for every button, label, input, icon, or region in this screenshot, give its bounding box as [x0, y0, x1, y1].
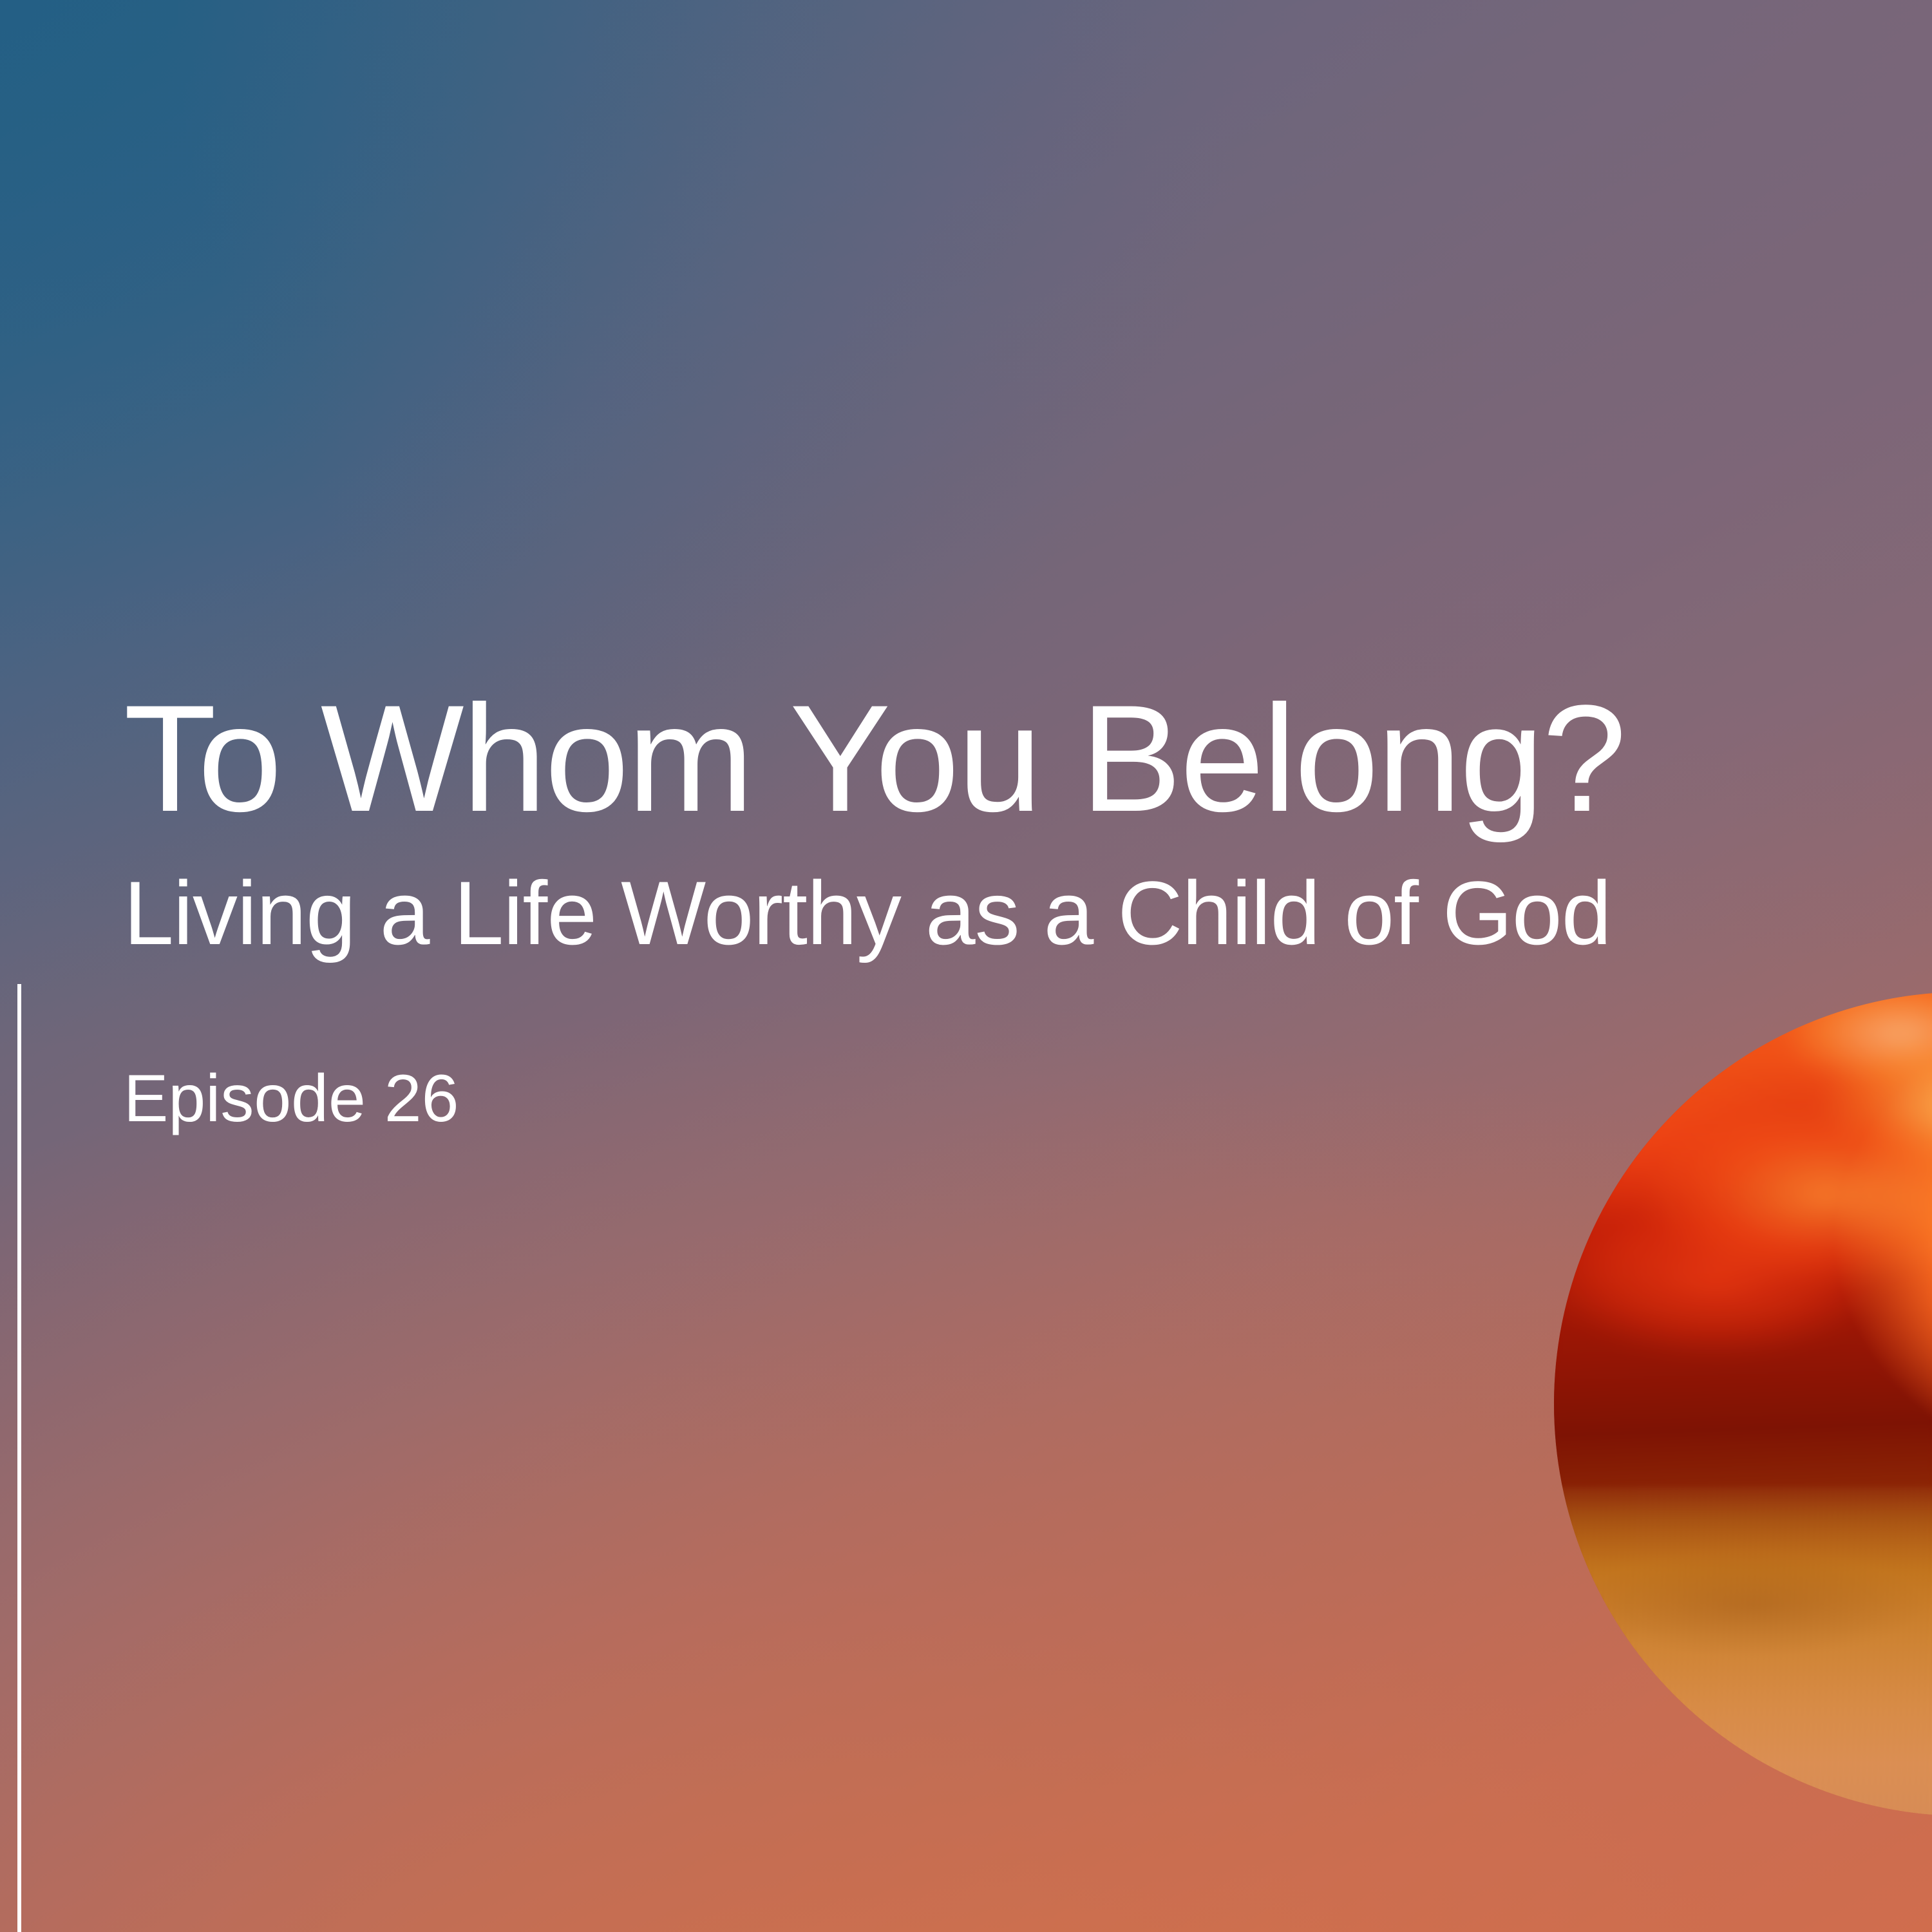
title-slide: To Whom You Belong? Living a Life Worthy… — [0, 0, 1932, 1932]
page-title: To Whom You Belong? — [124, 683, 1625, 835]
left-accent-rule — [17, 984, 21, 1932]
title-text-block: To Whom You Belong? Living a Life Worthy… — [124, 683, 1625, 1132]
page-subtitle: Living a Life Worthy as a Child of God — [124, 868, 1625, 958]
episode-label: Episode 26 — [124, 1065, 1625, 1132]
